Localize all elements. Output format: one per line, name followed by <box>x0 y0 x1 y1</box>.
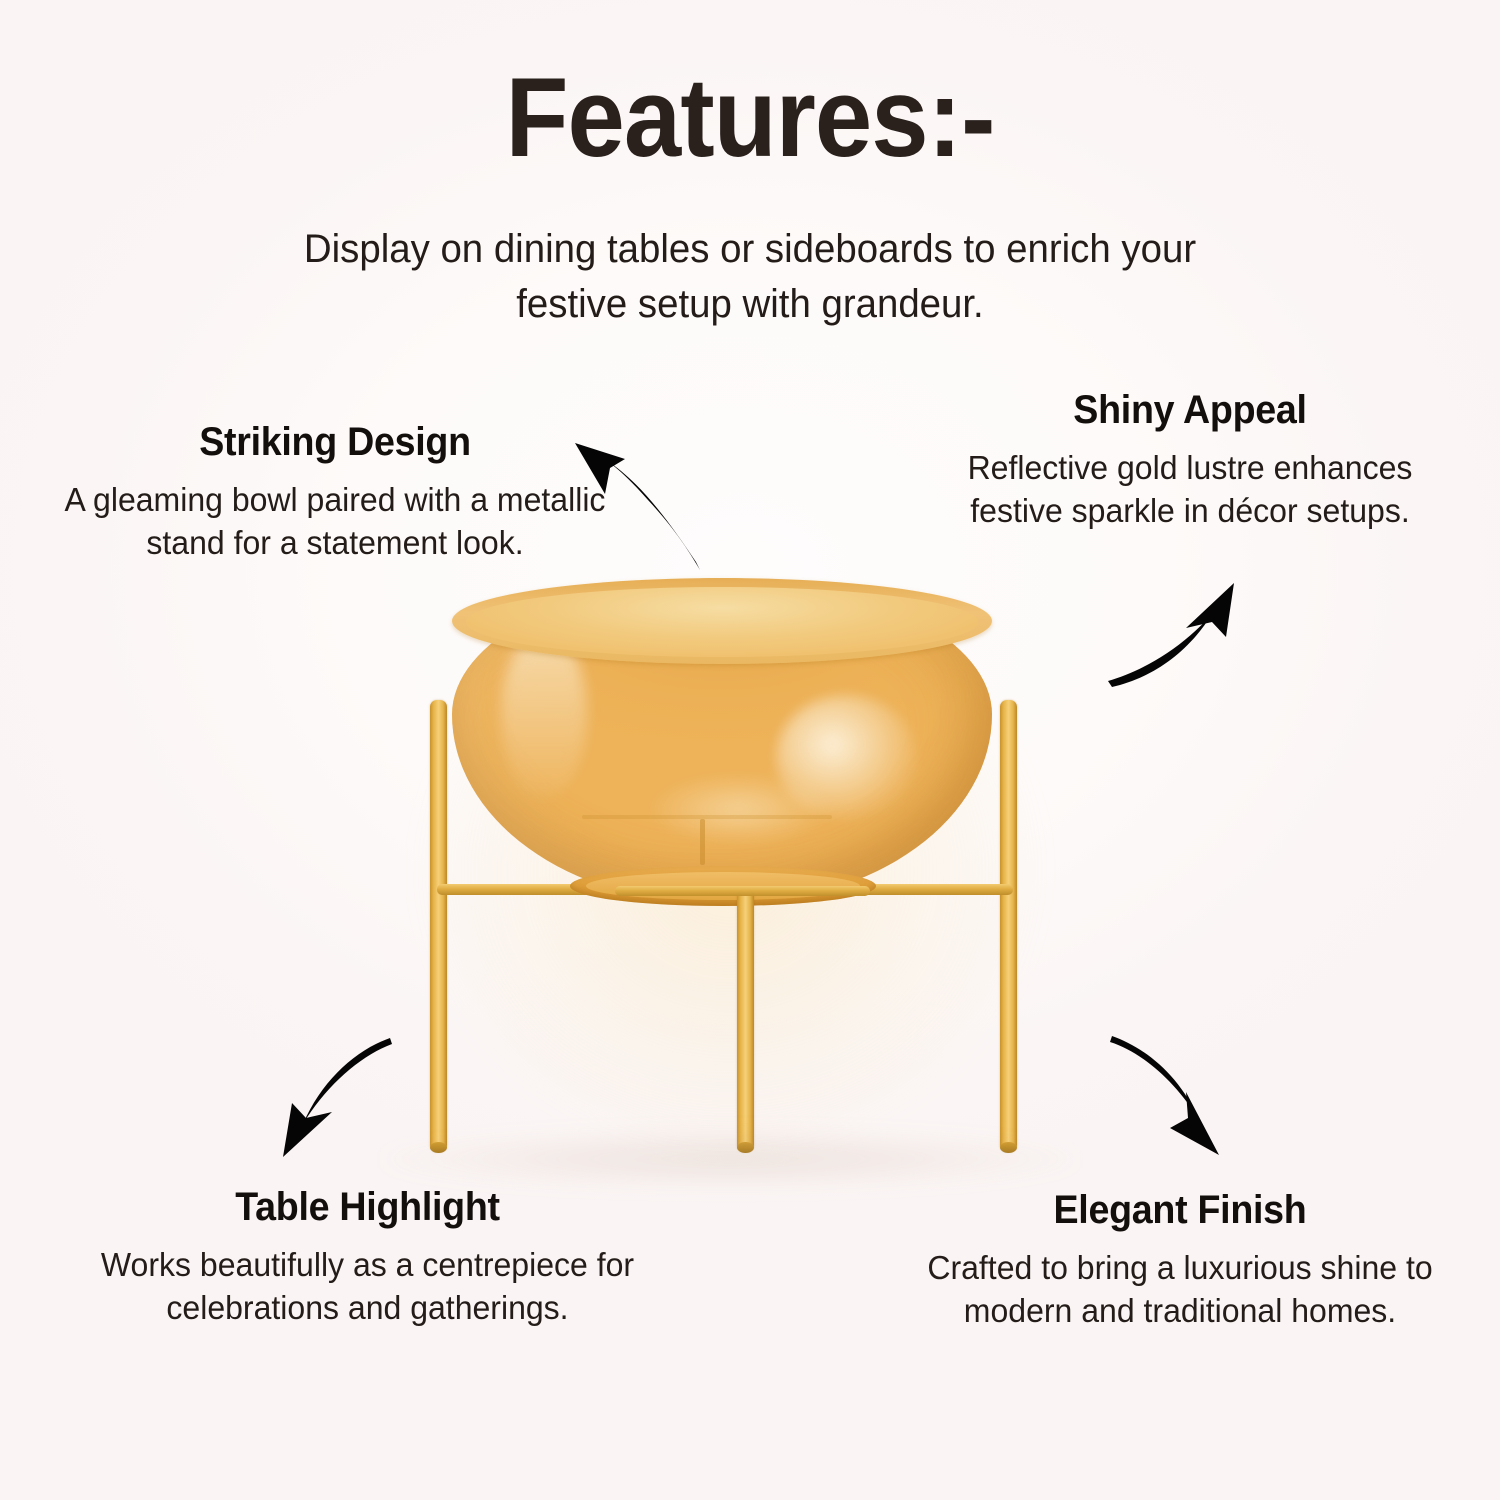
feature-title: Table Highlight <box>74 1185 662 1230</box>
feature-body: Reflective gold lustre enhances festive … <box>938 447 1442 533</box>
bowl-highlight-bottom <box>646 773 830 845</box>
glass-bowl <box>452 578 992 903</box>
stand-leg-back-right <box>1000 700 1017 1152</box>
infographic-page: Features:- Display on dining tables or s… <box>0 0 1500 1500</box>
feature-body: Works beautifully as a centrepiece for c… <box>64 1244 670 1330</box>
feature-title: Striking Design <box>39 420 631 465</box>
stand-leg-front-center <box>737 890 754 1152</box>
feature-block-shiny-appeal: Shiny Appeal Reflective gold lustre enha… <box>930 388 1450 533</box>
bowl-rim-inner <box>466 587 978 657</box>
bowl-base-seam <box>582 815 832 819</box>
feature-block-striking-design: Striking Design A gleaming bowl paired w… <box>20 420 650 565</box>
feature-body: Crafted to bring a luxurious shine to mo… <box>889 1247 1471 1333</box>
product-ground-shadow <box>380 1130 1080 1188</box>
feature-title: Elegant Finish <box>898 1188 1462 1233</box>
feature-body: A gleaming bowl paired with a metallic s… <box>29 479 640 565</box>
stand-leg-back-left <box>430 700 447 1152</box>
feature-block-table-highlight: Table Highlight Works beautifully as a c… <box>55 1185 680 1330</box>
feature-title: Shiny Appeal <box>946 388 1435 433</box>
bowl-center-seam <box>700 819 705 865</box>
stand-rail-front <box>615 886 870 896</box>
feature-block-elegant-finish: Elegant Finish Crafted to bring a luxuri… <box>880 1188 1480 1333</box>
